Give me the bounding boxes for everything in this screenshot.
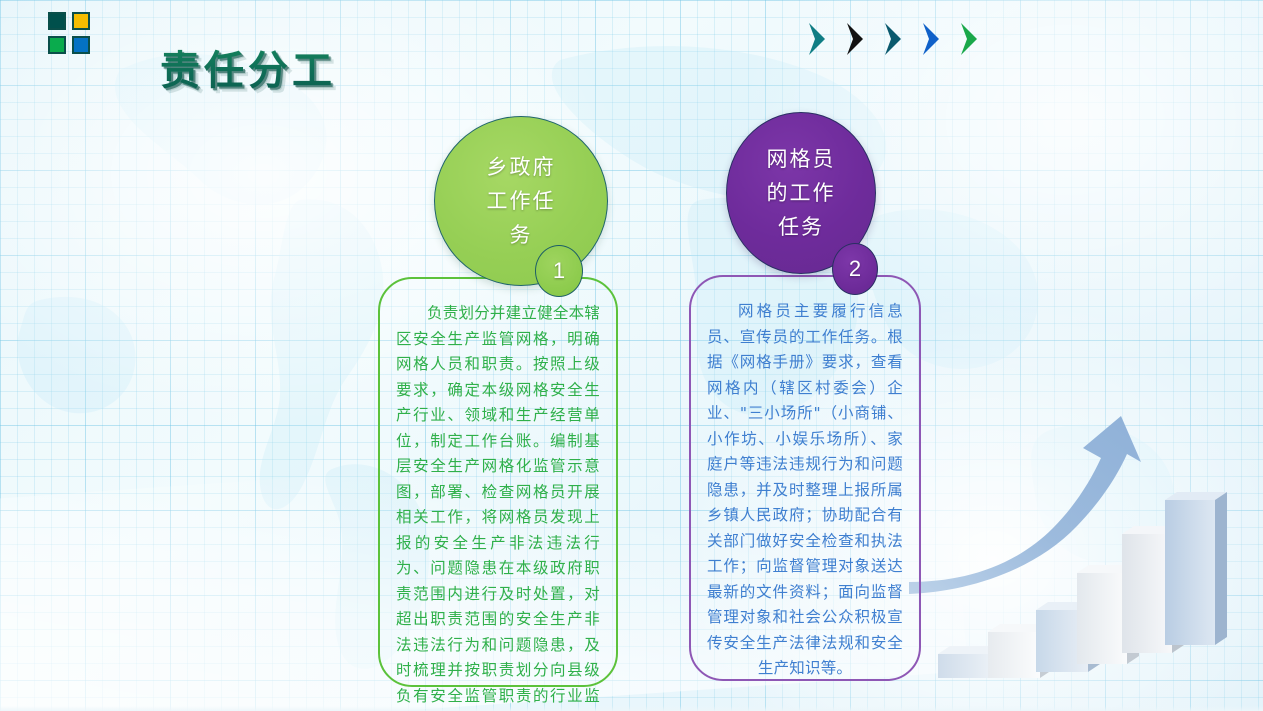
square-amber-icon (72, 12, 90, 30)
task-bubble-1-label: 乡政府 工作任 务 (487, 150, 556, 252)
chevron-right-teal-icon (806, 22, 828, 56)
task-bubble-2-label: 网格员 的工作 任务 (767, 142, 836, 244)
task-bubble-1[interactable]: 乡政府 工作任 务 (434, 116, 608, 286)
growth-bars-arrow-illustration (905, 410, 1255, 705)
task-panel-1: 负责划分并建立健全本辖区安全生产监管网格，明确网格人员和职责。按照上级要求，确定… (378, 277, 618, 687)
square-green-icon (48, 36, 66, 54)
chevron-right-green-icon (958, 22, 980, 56)
page-title: 责任分工 (160, 38, 336, 96)
task-panel-2-body: 网格员主要履行信息员、宣传员的工作任务。根据《网格手册》要求，查看网格内（辖区村… (691, 277, 919, 694)
chevron-right-black-icon (844, 22, 866, 56)
task-panel-1-body: 负责划分并建立健全本辖区安全生产监管网格，明确网格人员和职责。按照上级要求，确定… (380, 279, 616, 711)
task-badge-1: 1 (535, 245, 583, 297)
chevron-right-darkteal-icon (882, 22, 904, 56)
square-blue-icon (72, 36, 90, 54)
chevron-decoration-group (806, 22, 980, 56)
slide-bottom-edge (0, 706, 1263, 711)
task-panel-2: 网格员主要履行信息员、宣传员的工作任务。根据《网格手册》要求，查看网格内（辖区村… (689, 275, 921, 681)
slide-canvas: 责任分工 负责划分并建立健全本辖区安全生产监管网格，明确网格人员和职责。按照上级… (0, 0, 1263, 711)
logo-squares (48, 12, 90, 54)
task-badge-2: 2 (832, 243, 878, 295)
square-teal-icon (48, 12, 66, 30)
chevron-right-blue-icon (920, 22, 942, 56)
